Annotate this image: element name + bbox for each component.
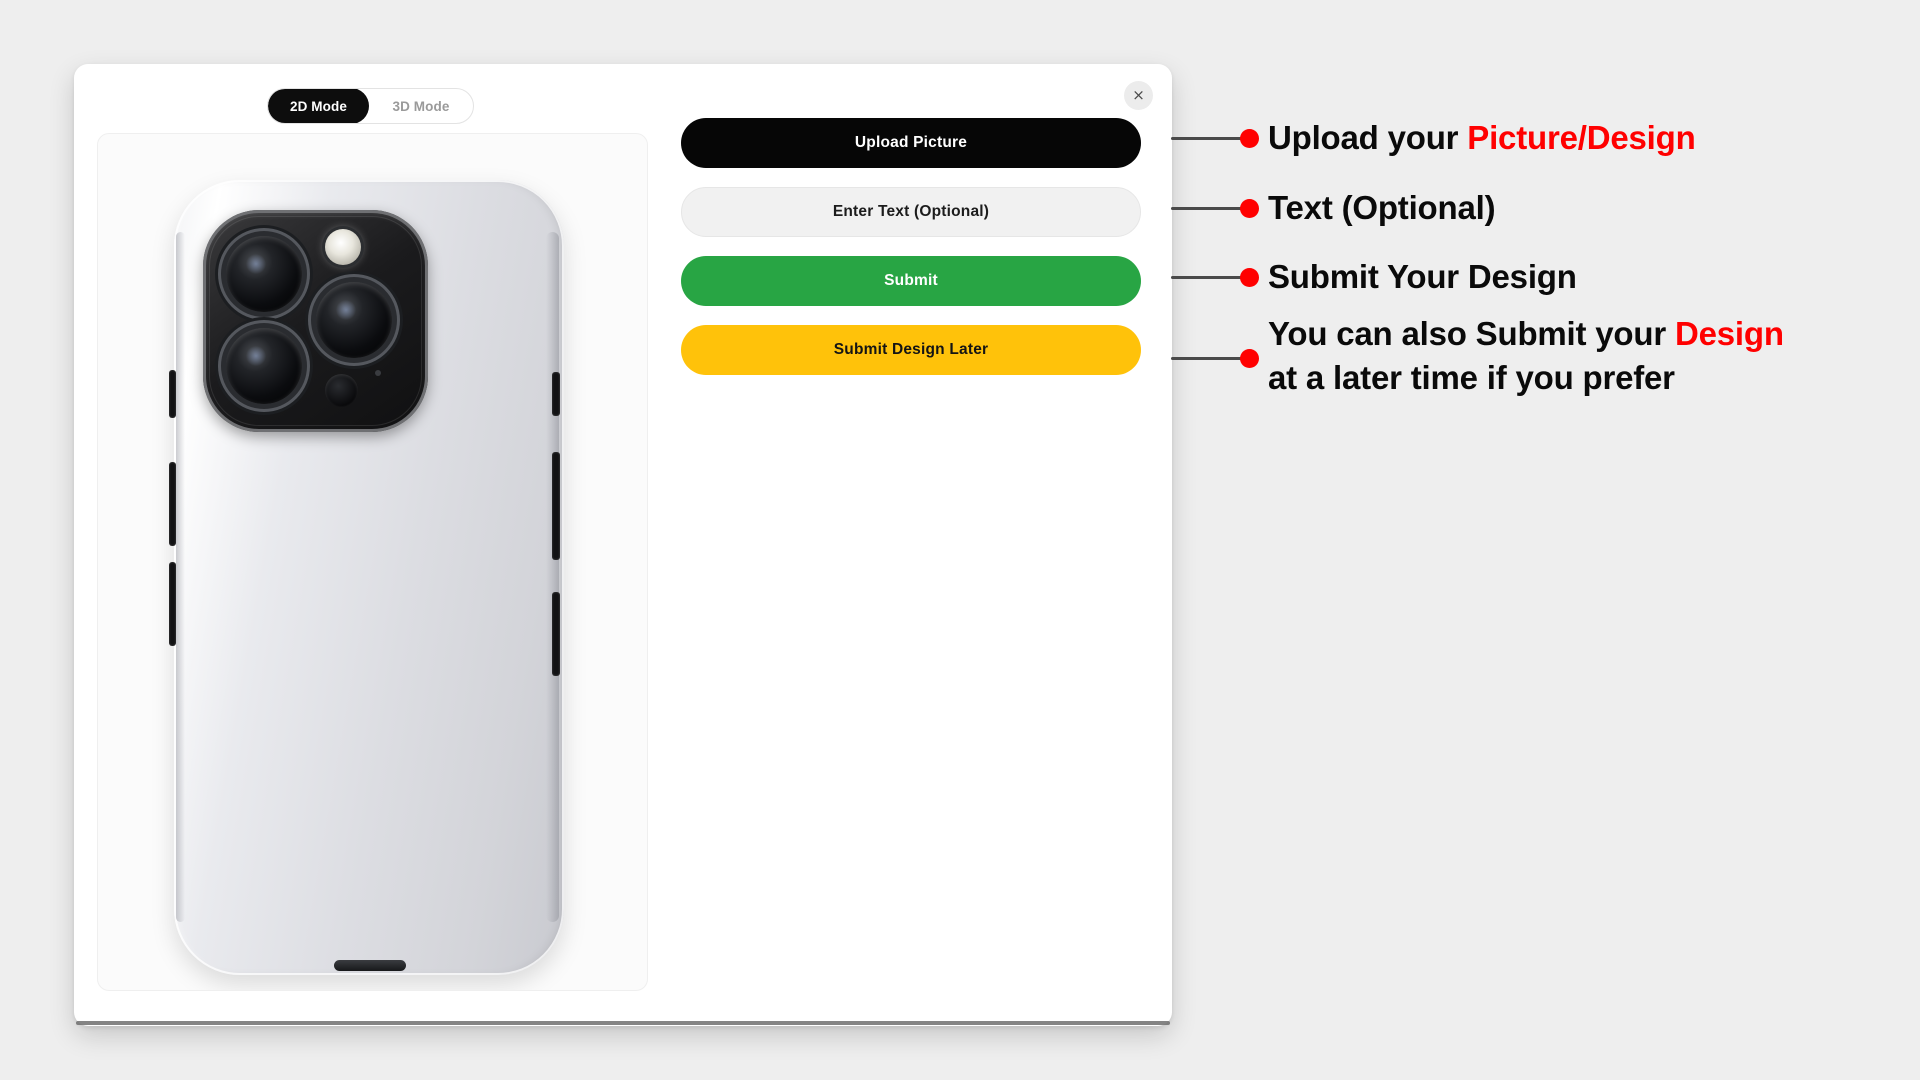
annotation-label-1: Upload your Picture/Design xyxy=(1268,116,1696,160)
annotation-2-plain: Text (Optional) xyxy=(1268,189,1495,226)
annotation-1-highlight: Picture/Design xyxy=(1467,119,1695,156)
screen-root: 2D Mode 3D Mode × xyxy=(0,0,1920,1080)
annotation-label-2: Text (Optional) xyxy=(1268,186,1495,230)
annotation-4-line2-plain: at a later time if you prefer xyxy=(1268,359,1675,396)
annotation-leader-4 xyxy=(1171,357,1245,360)
annotation-dot-4 xyxy=(1240,349,1259,368)
annotation-overlay: Upload your Picture/Design Text (Optiona… xyxy=(0,0,1920,1080)
annotation-dot-2 xyxy=(1240,199,1259,218)
annotation-4-line1-highlight: Design xyxy=(1675,315,1784,352)
annotation-dot-1 xyxy=(1240,129,1259,148)
annotation-dot-3 xyxy=(1240,268,1259,287)
annotation-leader-3 xyxy=(1171,276,1245,279)
annotation-4-line1-plain: You can also Submit your xyxy=(1268,315,1675,352)
annotation-1-plain: Upload your xyxy=(1268,119,1467,156)
annotation-label-3: Submit Your Design xyxy=(1268,255,1577,299)
annotation-leader-1 xyxy=(1171,137,1245,140)
annotation-3-plain: Submit Your Design xyxy=(1268,258,1577,295)
annotation-leader-2 xyxy=(1171,207,1245,210)
annotation-label-4: You can also Submit your Designat a late… xyxy=(1268,312,1784,400)
